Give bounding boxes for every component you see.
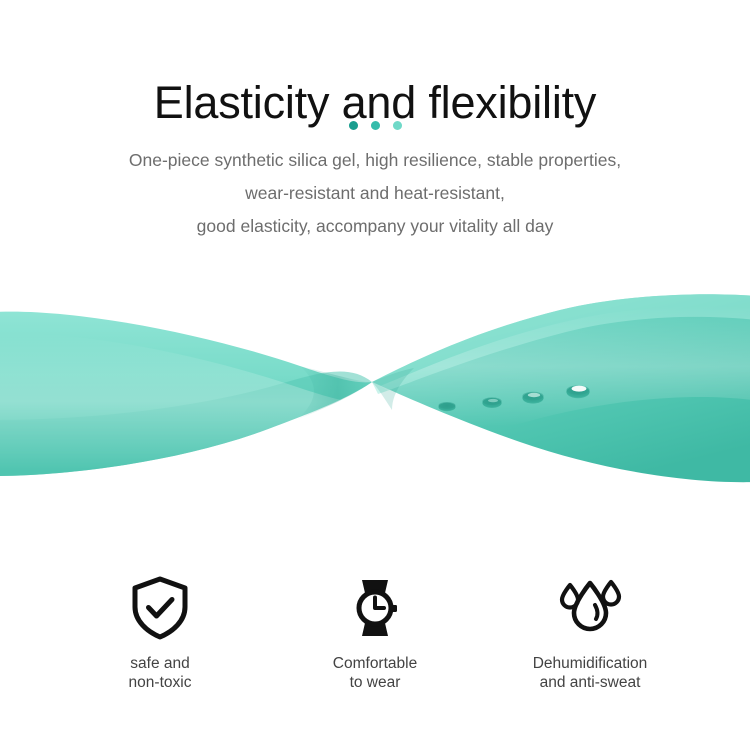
feature-label-line-1: Dehumidification <box>533 655 648 674</box>
subtitle-block: One-piece synthetic silica gel, high res… <box>0 144 750 243</box>
subtitle-line-3: good elasticity, accompany your vitality… <box>0 210 750 243</box>
feature-label-line-1: safe and <box>129 655 192 674</box>
dot-separator <box>0 121 750 130</box>
hole-specular-highlight <box>572 386 587 392</box>
subtitle-line-1: One-piece synthetic silica gel, high res… <box>0 144 750 177</box>
subtitle-line-2: wear-resistant and heat-resistant, <box>0 177 750 210</box>
feature-label-dehumidification: Dehumidification and anti-sweat <box>533 655 648 692</box>
water-droplets-icon <box>556 575 624 641</box>
product-image <box>0 270 750 540</box>
dot-3 <box>393 121 402 130</box>
shield-check-icon <box>130 575 190 641</box>
feature-label-safe-non-toxic: safe and non-toxic <box>129 655 192 692</box>
feature-item-dehumidification: Dehumidification and anti-sweat <box>483 575 698 692</box>
feature-row: safe and non-toxic <box>0 575 750 692</box>
feature-item-safe-non-toxic: safe and non-toxic <box>53 575 268 692</box>
feature-item-comfortable-to-wear: Comfortable to wear <box>268 575 483 692</box>
dot-2 <box>371 121 380 130</box>
feature-label-line-2: to wear <box>333 674 417 693</box>
feature-label-line-2: and anti-sweat <box>533 674 648 693</box>
feature-label-comfortable-to-wear: Comfortable to wear <box>333 655 417 692</box>
dot-1 <box>349 121 358 130</box>
wristwatch-icon <box>345 575 405 641</box>
feature-label-line-2: non-toxic <box>129 674 192 693</box>
feature-label-line-1: Comfortable <box>333 655 417 674</box>
product-feature-banner: Elasticity and flexibility One-piece syn… <box>0 0 750 750</box>
